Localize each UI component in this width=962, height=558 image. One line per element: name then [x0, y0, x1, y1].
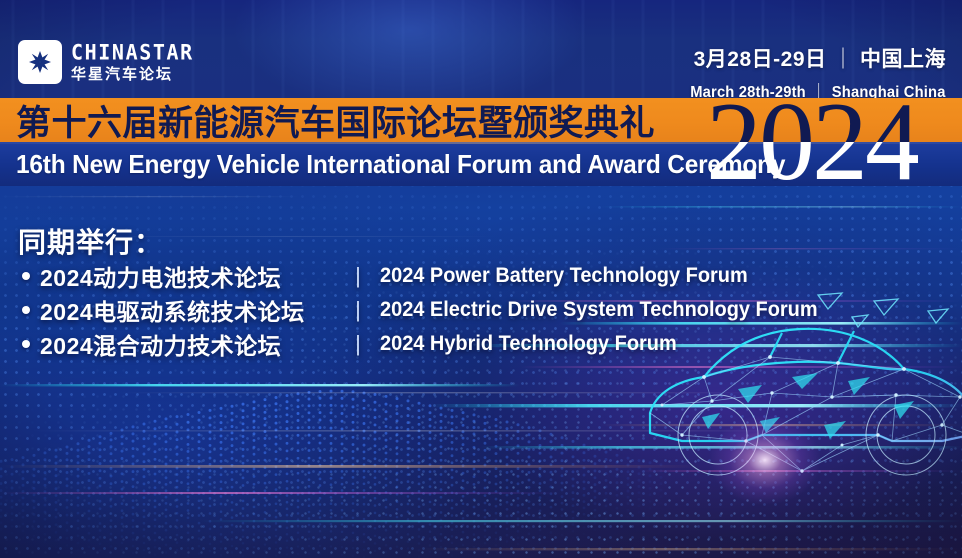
bullet-icon [22, 306, 30, 314]
concurrent-events-heading: 同期举行： [18, 221, 163, 261]
bullet-icon [22, 340, 30, 348]
forum-name-english: 2024 Hybrid Technology Forum [380, 332, 677, 356]
forum-separator: | [340, 263, 376, 289]
forum-name-english: 2024 Power Battery Technology Forum [380, 264, 748, 288]
bullet-icon [22, 272, 30, 280]
list-item[interactable]: 2024电驱动系统技术论坛 | 2024 Electric Drive Syst… [22, 295, 842, 325]
date-chinese-line: 3月28日-29日｜中国上海 [668, 43, 946, 73]
forum-separator: | [340, 331, 376, 357]
forum-name-chinese: 2024电驱动系统技术论坛 [40, 293, 305, 327]
date-chinese: 3月28日-29日 [694, 48, 827, 71]
logo-english-name: CHINASTAR [71, 41, 194, 63]
event-title-english: 16th New Energy Vehicle International Fo… [16, 142, 785, 186]
date-separator-cn: ｜ [827, 43, 861, 73]
list-item[interactable]: 2024混合动力技术论坛 | 2024 Hybrid Technology Fo… [22, 329, 842, 359]
logo-chinese-name: 华星汽车论坛 [71, 67, 194, 82]
forum-separator: | [340, 297, 376, 323]
event-title-chinese: 第十六届新能源汽车国际论坛暨颁奖典礼 [16, 98, 655, 142]
event-date-location: 3月28日-29日｜中国上海 March 28th-29th｜Shanghai … [668, 43, 946, 102]
forum-list: 2024动力电池技术论坛 | 2024 Power Battery Techno… [22, 261, 842, 363]
list-item[interactable]: 2024动力电池技术论坛 | 2024 Power Battery Techno… [22, 261, 842, 291]
forum-name-chinese: 2024混合动力技术论坛 [40, 327, 281, 361]
forum-name-chinese: 2024动力电池技术论坛 [40, 259, 281, 293]
location-chinese: 中国上海 [860, 48, 946, 71]
chinastar-logo[interactable]: CHINASTAR 华星汽车论坛 [18, 40, 194, 84]
forum-name-english: 2024 Electric Drive System Technology Fo… [380, 298, 818, 322]
event-banner: CHINASTAR 华星汽车论坛 3月28日-29日｜中国上海 March 28… [0, 0, 962, 558]
lens-flare [690, 400, 840, 520]
star-pinwheel-icon [18, 40, 62, 84]
